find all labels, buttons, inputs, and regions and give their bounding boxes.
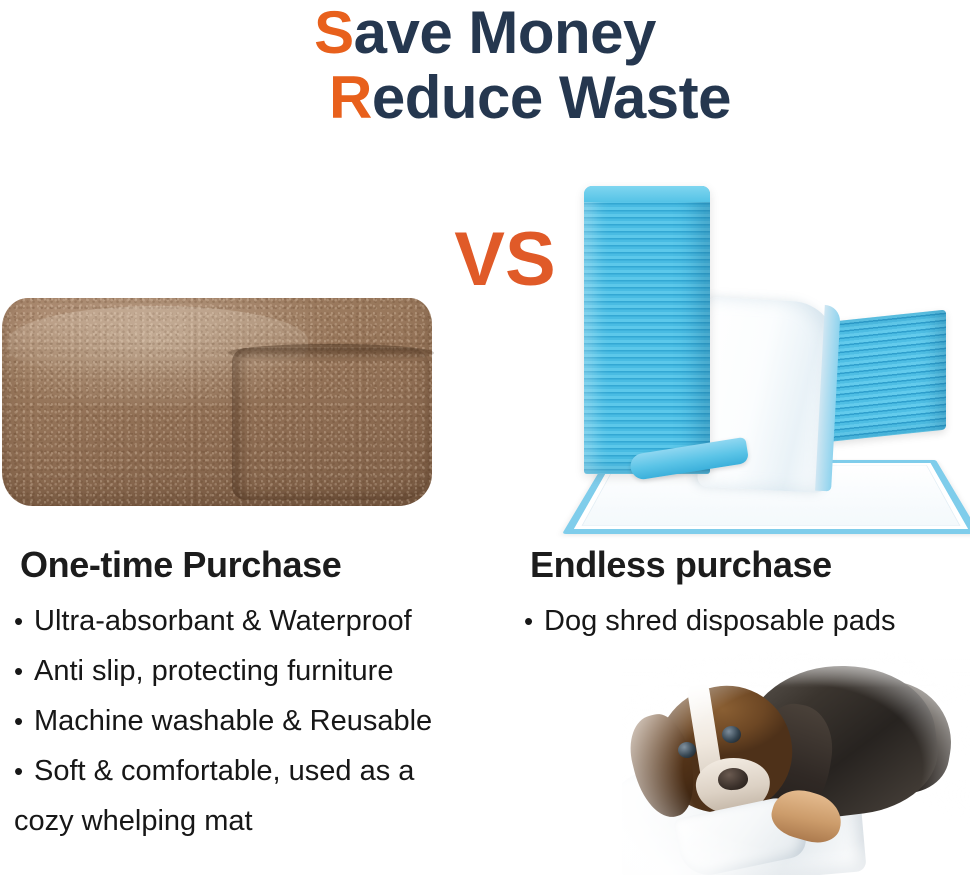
headline-line-1-rest: ave Money — [354, 0, 656, 66]
bullet-text: Soft & comfortable, used as a — [34, 755, 414, 787]
headline-line-2-rest: educe Waste — [372, 64, 731, 131]
puppy-photo — [622, 652, 970, 875]
bullet-text: Ultra-absorbant & Waterproof — [34, 605, 412, 637]
pads-stack-primary — [584, 186, 710, 474]
list-item: Anti slip, protecting furniture — [14, 646, 514, 696]
pads-stack-secondary — [824, 310, 946, 443]
versus-label: VS — [440, 222, 570, 298]
right-column-drawbacks: Dog shred disposable pads — [524, 596, 964, 646]
product-comparison-infographic: Save Money Reduce Waste VS One-time Purc… — [0, 0, 970, 875]
puppy-left-eye — [678, 742, 696, 758]
bullet-text: Machine washable & Reusable — [34, 705, 432, 737]
list-item: Ultra-absorbant & Waterproof — [14, 596, 514, 646]
headline-accent-s: S — [314, 0, 354, 66]
headline-accent-r: R — [329, 64, 372, 131]
bullet-text: Anti slip, protecting furniture — [34, 655, 393, 687]
left-column-benefits: Ultra-absorbant & Waterproof Anti slip, … — [14, 596, 514, 846]
disposable-pads-photo — [552, 180, 970, 520]
blanket-folded-roll — [232, 348, 430, 500]
list-item: Machine washable & Reusable — [14, 696, 514, 746]
headline-line-2: Reduce Waste — [0, 67, 970, 128]
headline-line-1: Save Money — [0, 2, 970, 63]
puppy-right-eye — [722, 726, 741, 743]
bullet-text: Dog shred disposable pads — [544, 605, 895, 637]
blanket-product-photo — [0, 292, 440, 524]
page-title: Save Money Reduce Waste — [0, 2, 970, 128]
left-column-heading: One-time Purchase — [20, 544, 341, 586]
list-item: Dog shred disposable pads — [524, 596, 964, 646]
list-item: Soft & comfortable, used as acozy whelpi… — [14, 746, 514, 846]
right-column-heading: Endless purchase — [530, 544, 832, 586]
pads-stack-top-pad — [584, 186, 710, 202]
bullet-text-continuation: cozy whelping mat — [14, 796, 514, 846]
